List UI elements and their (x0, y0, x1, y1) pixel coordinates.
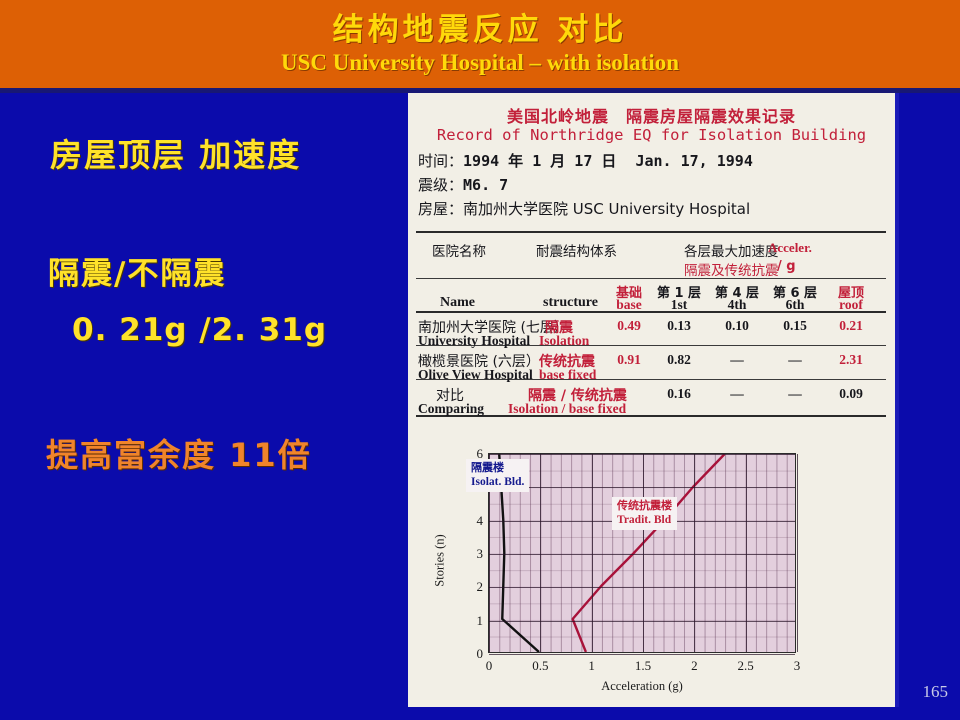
chart-y-tick-label: 1 (477, 613, 484, 629)
table-cell-value: 0.10 (714, 318, 760, 334)
table-cell-value: 0.49 (606, 318, 652, 334)
page-number: 165 (923, 682, 949, 702)
table-cell-value: 0.13 (656, 318, 702, 334)
slide-title-chinese: 结构地震反应 对比 (0, 0, 960, 47)
document-title-chinese: 美国北岭地震 隔震房屋隔震效果记录 (408, 103, 895, 127)
legend-isolated-en: Isolat. Bld. (471, 475, 524, 489)
meta-building-label: 房屋： (418, 200, 463, 218)
document-title-english: Record of Northridge EQ for Isolation Bu… (408, 126, 895, 144)
table-rule-group (416, 278, 886, 279)
chart-plot-area: 00.511.522.530123456 (488, 453, 796, 653)
chart-x-tick-label: 1.5 (635, 658, 651, 674)
table-col-header-1st-en: 1st (656, 297, 702, 313)
chart-x-tick-label: 3 (794, 658, 801, 674)
caption-isolation-ratio-label: 隔震/不隔震 (48, 248, 226, 293)
document-meta-time: 时间：1994 年 1 月 17 日 Jan. 17, 1994 (418, 150, 753, 171)
slide-header: 结构地震反应 对比 USC University Hospital – with… (0, 0, 960, 88)
chart-gridline-horizontal (489, 621, 795, 622)
chart-gridline-vertical (540, 454, 541, 652)
chart-gridline-vertical (643, 454, 644, 652)
table-col-header-roof-en: roof (828, 297, 874, 313)
chart-gridline-vertical (746, 454, 747, 652)
acceleration-profile-chart: Stories (n) 00.511.522.530123456 Acceler… (436, 443, 876, 701)
legend-isolated-building: 隔震楼 Isolat. Bld. (466, 459, 529, 492)
table-cell-value: — (714, 386, 760, 402)
chart-series-svg (489, 454, 795, 652)
table-header-name-en: Name (440, 295, 475, 311)
chart-x-tick-label: 2.5 (738, 658, 754, 674)
table-cell-value: — (772, 386, 818, 402)
meta-magnitude-value: M6. 7 (463, 176, 508, 194)
legend-traditional-en: Tradit. Bld (617, 513, 672, 527)
scanned-document-panel: 美国北岭地震 隔震房屋隔震效果记录 Record of Northridge E… (408, 93, 895, 707)
table-header-accel-unit: / g (777, 259, 796, 274)
chart-gridline-horizontal (489, 654, 795, 655)
table-header-accel-cn2: 隔震及传统抗震 (684, 259, 779, 279)
legend-traditional-building: 传统抗震楼 Tradit. Bld (612, 497, 677, 530)
table-row-name-en: University Hospital (418, 333, 530, 349)
table-header-accel-cn: 各层最大加速度 (684, 240, 779, 260)
table-cell-value: 0.16 (656, 386, 702, 402)
meta-magnitude-label: 震级： (418, 176, 463, 194)
table-header-structure-cn: 耐震结构体系 (536, 240, 617, 260)
chart-y-tick-label: 2 (477, 579, 484, 595)
document-meta-building: 房屋：南加州大学医院 USC University Hospital (418, 198, 750, 219)
table-row-structure-en: Isolation / base fixed (508, 401, 626, 417)
chart-x-tick-label: 0 (486, 658, 493, 674)
table-cell-value: 0.21 (828, 318, 874, 334)
caption-roof-acceleration: 房屋顶层 加速度 (50, 130, 301, 176)
chart-series-line-traditional (573, 454, 725, 652)
table-rule-bottom (416, 415, 886, 417)
meta-time-label: 时间： (418, 152, 463, 170)
left-caption-column: 房屋顶层 加速度 隔震/不隔震 0. 21g /2. 31g 提高富余度 11倍 (0, 100, 400, 660)
slide-title-english: USC University Hospital – with isolation (0, 47, 960, 75)
table-rule-top (416, 231, 886, 233)
meta-time-value: 1994 年 1 月 17 日 (463, 152, 616, 170)
legend-isolated-cn: 隔震楼 (471, 461, 524, 475)
table-row-structure-en: Isolation (539, 333, 589, 349)
table-cell-value: 0.82 (656, 352, 702, 368)
table-cell-value: 0.15 (772, 318, 818, 334)
chart-gridline-horizontal (489, 454, 795, 455)
chart-gridline-vertical (694, 454, 695, 652)
table-col-header-4th-en: 4th (714, 297, 760, 313)
chart-gridline-vertical (592, 454, 593, 652)
slide: 结构地震反应 对比 USC University Hospital – with… (0, 0, 960, 720)
chart-x-tick-label: 2 (691, 658, 698, 674)
chart-x-tick-label: 1 (588, 658, 595, 674)
document-right-edge (895, 93, 899, 707)
chart-y-tick-label: 4 (477, 513, 484, 529)
table-cell-value: 0.91 (606, 352, 652, 368)
table-cell-value: 2.31 (828, 352, 874, 368)
table-row-name-en: Comparing (418, 401, 484, 417)
table-header-accel-en: Acceler. (768, 240, 812, 256)
chart-y-tick-label: 3 (477, 546, 484, 562)
table-cell-value: 0.09 (828, 386, 874, 402)
table-header-name-cn: 医院名称 (432, 240, 486, 260)
chart-gridline-vertical (797, 454, 798, 652)
table-row-structure-en: base fixed (539, 367, 596, 383)
caption-safety-margin: 提高富余度 11倍 (46, 430, 312, 476)
chart-x-tick-label: 0.5 (532, 658, 548, 674)
chart-gridline-horizontal (489, 587, 795, 588)
meta-building-value: 南加州大学医院 USC University Hospital (463, 200, 750, 218)
chart-y-tick-label: 0 (477, 646, 484, 662)
table-cell-value: — (772, 352, 818, 368)
chart-gridline-horizontal (489, 554, 795, 555)
chart-y-axis-label: Stories (n) (433, 534, 448, 586)
meta-time-extra: Jan. 17, 1994 (635, 152, 752, 170)
table-header-structure-en: structure (543, 295, 598, 311)
table-row-name-en: Olive View Hospital (418, 367, 533, 383)
legend-traditional-cn: 传统抗震楼 (617, 499, 672, 513)
table-col-header-6th-en: 6th (772, 297, 818, 313)
document-meta-magnitude: 震级：M6. 7 (418, 174, 508, 195)
chart-gridline-horizontal (489, 487, 795, 488)
table-col-header-base-en: base (606, 297, 652, 313)
caption-isolation-ratio-value: 0. 21g /2. 31g (72, 312, 327, 348)
chart-x-axis-label: Acceleration (g) (488, 679, 796, 694)
table-cell-value: — (714, 352, 760, 368)
